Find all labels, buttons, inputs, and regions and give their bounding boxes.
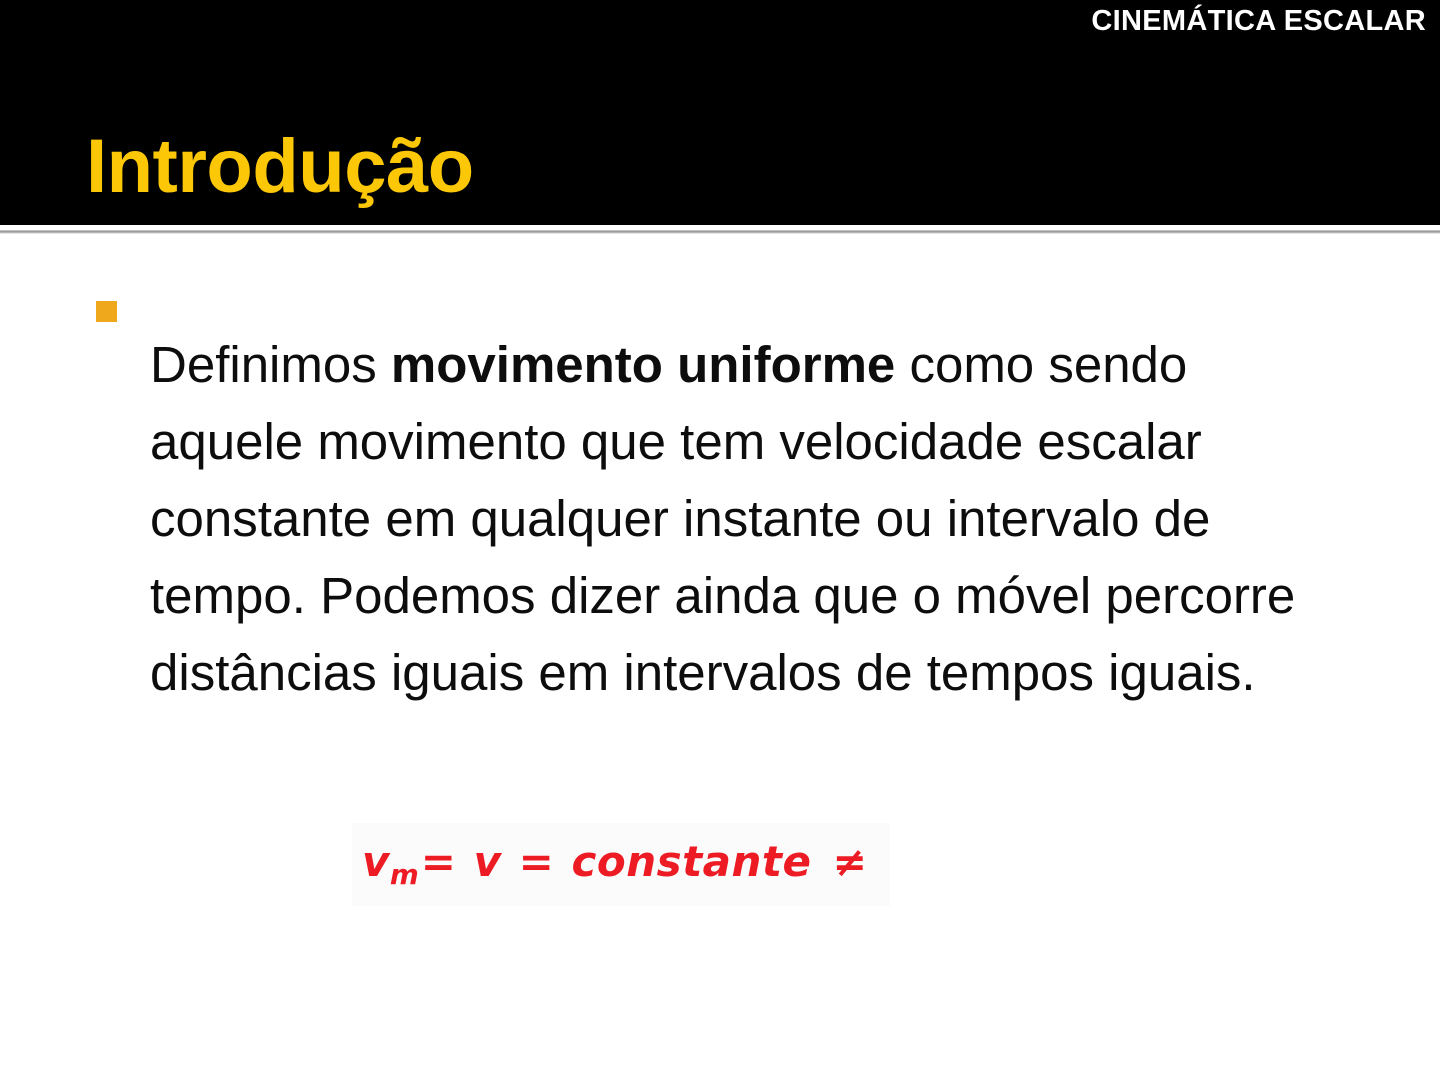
bullet-item-text: Definimos movimento uniforme como sendo … xyxy=(150,326,1350,711)
header-divider xyxy=(0,225,1440,237)
formula-equals-2: = xyxy=(517,837,557,886)
divider-rule xyxy=(0,230,1440,234)
formula-equals-1: = xyxy=(419,837,459,886)
header-band: CINEMÁTICA ESCALAR Introdução xyxy=(0,0,1440,225)
page-title: Introdução xyxy=(86,129,474,205)
formula-v-mean: v xyxy=(362,837,390,886)
square-bullet-icon xyxy=(96,301,117,322)
bullet-text-run: Definimos xyxy=(150,336,391,393)
formula-constant-word: constante xyxy=(571,837,811,886)
slide-content: Definimos movimento uniforme como sendo … xyxy=(0,237,1440,1080)
formula-expression: vm= v = constante ≠ 0 xyxy=(352,841,890,888)
slide: CINEMÁTICA ESCALAR Introdução Definimos … xyxy=(0,0,1440,1080)
bullet-text-emphasis: movimento uniforme xyxy=(391,336,895,393)
formula-not-equal-sign: ≠ xyxy=(827,838,874,886)
formula-image: vm= v = constante ≠ 0 xyxy=(352,823,890,906)
formula-v: v xyxy=(474,837,502,886)
formula-subscript-m: m xyxy=(390,858,419,891)
formula-zero: 0 xyxy=(889,837,890,886)
section-kicker: CINEMÁTICA ESCALAR xyxy=(1091,6,1426,38)
bullet-list-item: Definimos movimento uniforme como sendo … xyxy=(96,275,1366,762)
